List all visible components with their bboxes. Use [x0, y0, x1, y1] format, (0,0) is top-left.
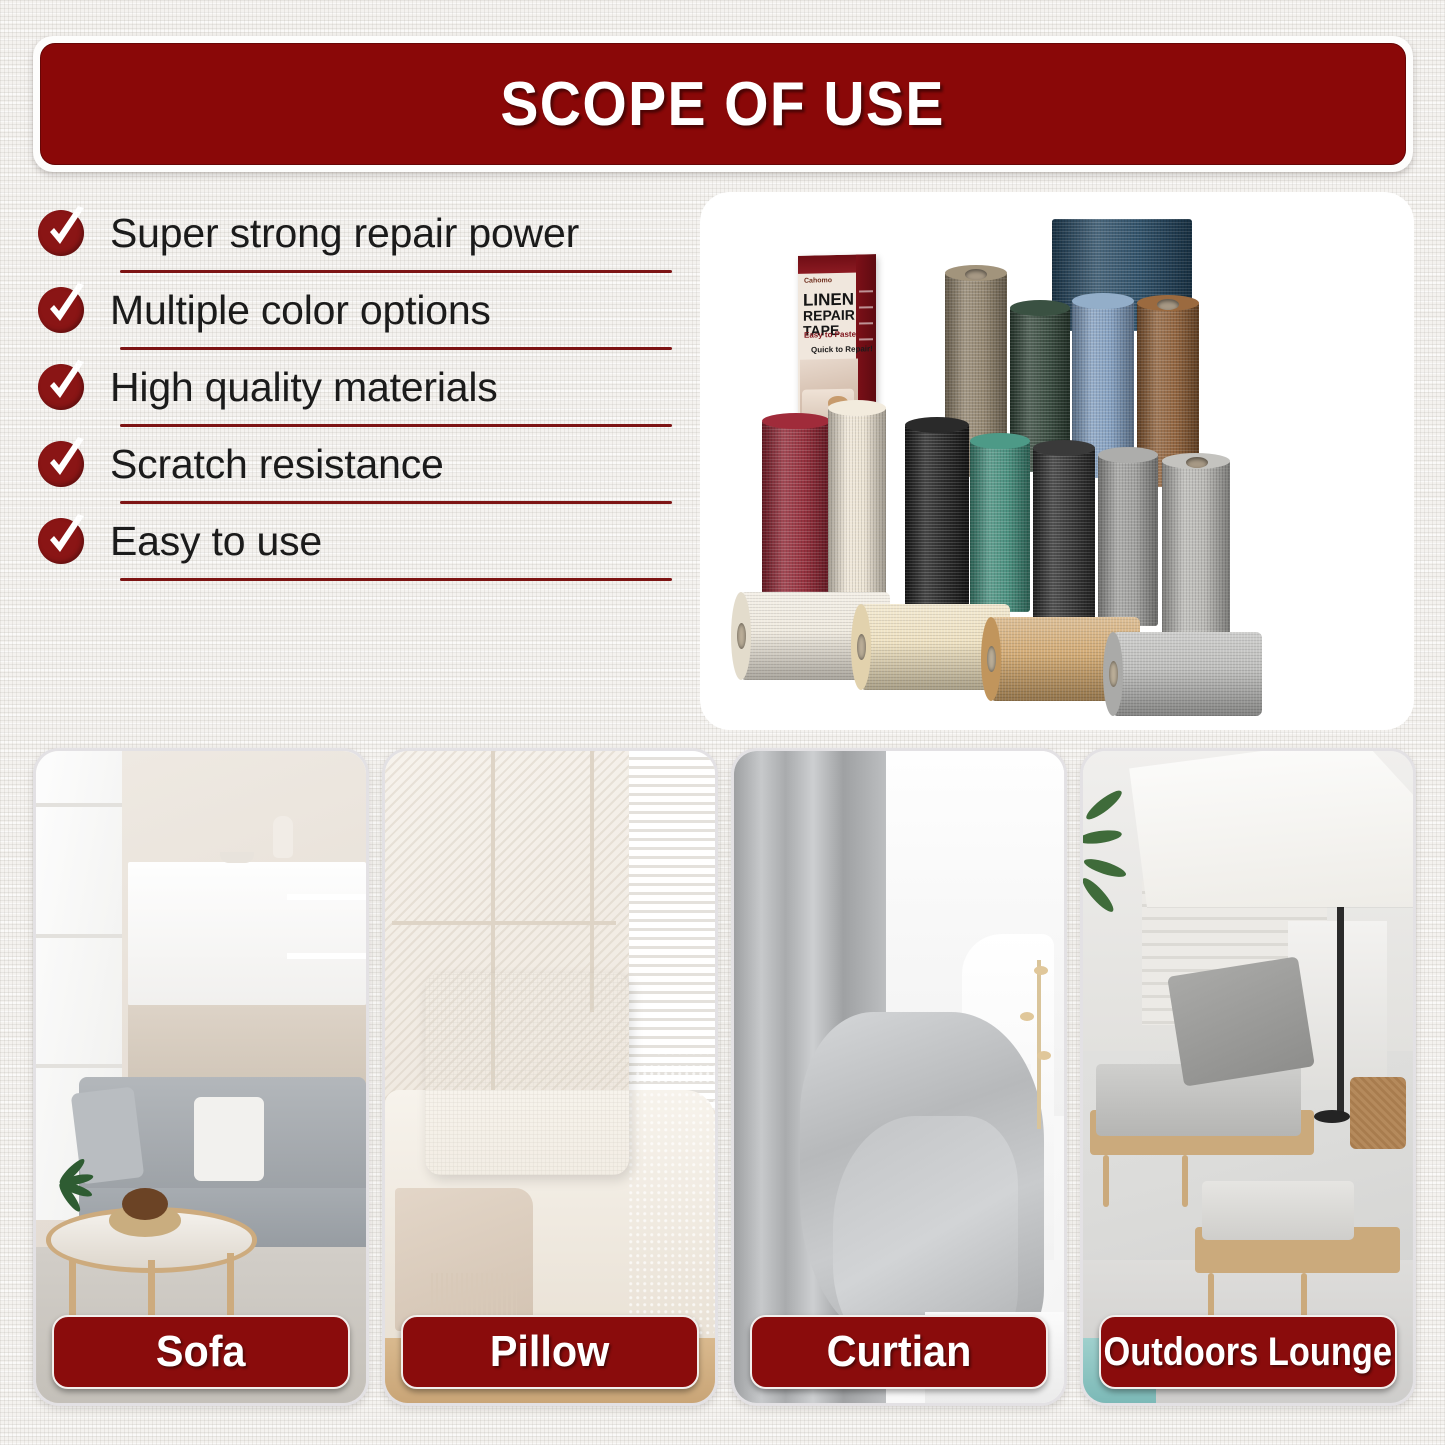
feature-item: Easy to use [38, 504, 686, 578]
product-box-tagline2: Quick to Repair! [811, 344, 873, 354]
header-banner: SCOPE OF USE [33, 36, 1413, 172]
tape-roll-lightgrey [1162, 460, 1230, 640]
feature-item: High quality materials [38, 350, 686, 424]
feature-item: Super strong repair power [38, 196, 686, 270]
tape-roll-silver-lying [1112, 632, 1262, 716]
pillow-photo [385, 751, 715, 1403]
card-label-outdoors-lounge: Outdoors Lounge [1099, 1315, 1397, 1389]
product-box-brand: Cahomo [804, 277, 832, 285]
tape-roll-black [905, 424, 969, 606]
feature-list: Super strong repair power Multiple color… [38, 196, 686, 581]
card-label-text: Sofa [156, 1327, 246, 1377]
outdoors-lounge-photo [1083, 751, 1413, 1403]
checkmark-icon [38, 364, 84, 410]
feature-label: Scratch resistance [110, 441, 444, 488]
sofa-photo [36, 751, 366, 1403]
card-label-text: Pillow [490, 1327, 609, 1377]
tape-roll-teal [970, 440, 1030, 612]
card-label-pillow: Pillow [401, 1315, 699, 1389]
card-label-text: Curtian [827, 1327, 972, 1377]
feature-label: Easy to use [110, 518, 322, 565]
checkmark-icon [38, 441, 84, 487]
feature-item: Scratch resistance [38, 427, 686, 501]
feature-divider [120, 578, 672, 581]
use-case-card-sofa[interactable]: Sofa [33, 748, 369, 1406]
tape-roll-red [762, 420, 830, 610]
feature-item: Multiple color options [38, 273, 686, 347]
header-banner-inner: SCOPE OF USE [40, 43, 1406, 165]
infographic-page: SCOPE OF USE Super strong repair power M… [0, 0, 1445, 1445]
checkmark-icon [38, 210, 84, 256]
tape-roll-grey [1098, 454, 1158, 626]
feature-label: Super strong repair power [110, 210, 579, 257]
product-image-card: Cahomo LINEN REPAIR TAPE Easy to Paste Q… [700, 192, 1414, 730]
card-label-curtain: Curtian [750, 1315, 1048, 1389]
card-label-sofa: Sofa [52, 1315, 350, 1389]
tape-roll-charcoal [1033, 447, 1095, 622]
feature-label: Multiple color options [110, 287, 491, 334]
curtain-photo [734, 751, 1064, 1403]
checkmark-icon [38, 518, 84, 564]
card-label-text: Outdoors Lounge [1104, 1330, 1393, 1375]
tape-roll-cream [828, 407, 886, 612]
checkmark-icon [38, 287, 84, 333]
page-title: SCOPE OF USE [501, 69, 945, 140]
product-photo: Cahomo LINEN REPAIR TAPE Easy to Paste Q… [700, 192, 1414, 730]
use-case-card-pillow[interactable]: Pillow [382, 748, 718, 1406]
feature-label: High quality materials [110, 364, 498, 411]
product-box-tagline1: Easy to Paste [804, 330, 856, 340]
use-case-card-curtain[interactable]: Curtian [731, 748, 1067, 1406]
use-case-cards: Sofa Pillow [33, 748, 1416, 1406]
use-case-card-outdoors-lounge[interactable]: Outdoors Lounge [1080, 748, 1416, 1406]
